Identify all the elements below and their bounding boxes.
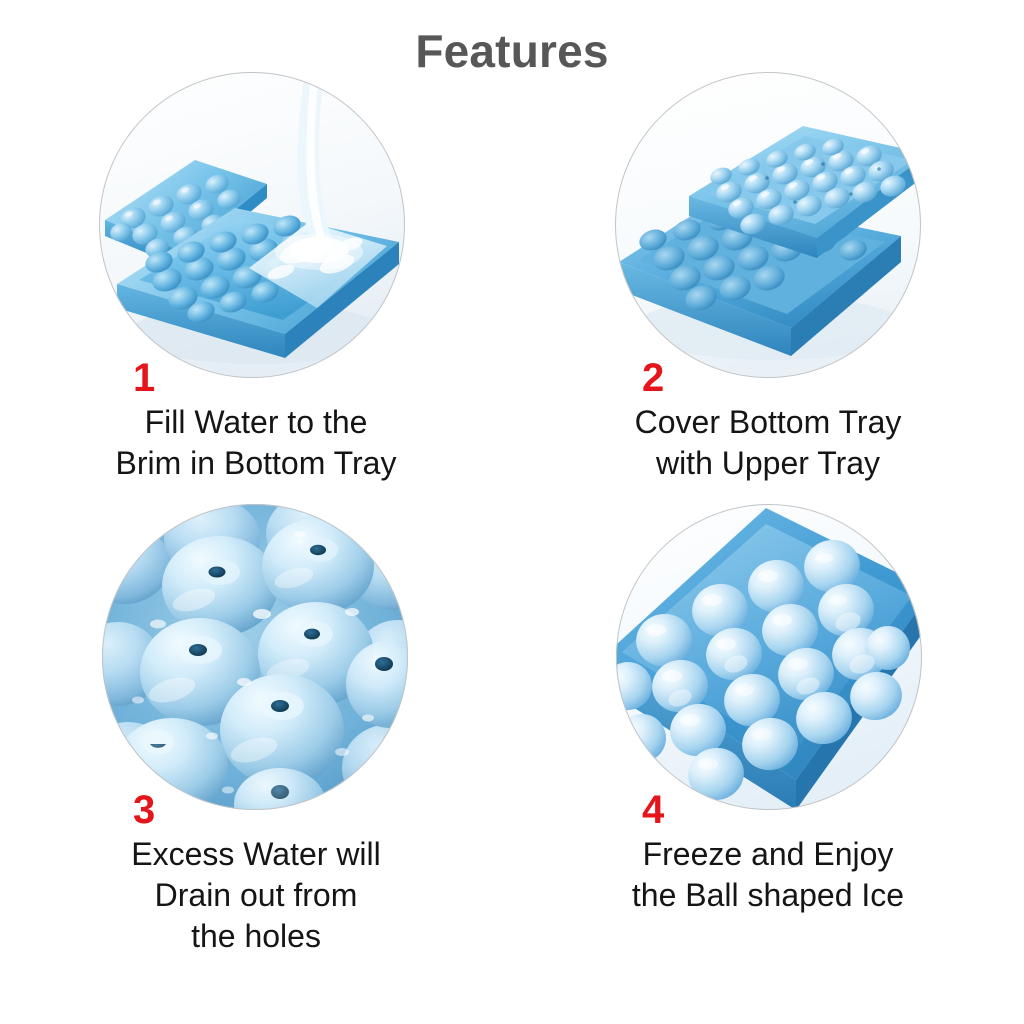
step-3-caption: Excess Water will Drain out from the hol… bbox=[0, 834, 512, 957]
step-4-photo bbox=[616, 504, 922, 810]
page-title: Features bbox=[0, 26, 1024, 77]
step-2-photo bbox=[615, 72, 921, 378]
step-4-caption: Freeze and Enjoy the Ball shaped Ice bbox=[512, 834, 1024, 916]
step-1-image-circle bbox=[99, 72, 405, 378]
feature-step-1: 1 Fill Water to the Brim in Bottom Tray bbox=[0, 72, 512, 542]
features-infographic: Features bbox=[0, 0, 1024, 1024]
step-3-image-circle bbox=[102, 504, 408, 810]
step-4-number: 4 bbox=[642, 790, 664, 830]
step-1-caption: Fill Water to the Brim in Bottom Tray bbox=[0, 402, 512, 484]
step-2-caption: Cover Bottom Tray with Upper Tray bbox=[512, 402, 1024, 484]
step-2-image-circle bbox=[615, 72, 921, 378]
feature-step-3: 3 Excess Water will Drain out from the h… bbox=[0, 500, 512, 970]
feature-step-2: 2 Cover Bottom Tray with Upper Tray bbox=[512, 72, 1024, 542]
step-3-number: 3 bbox=[133, 790, 155, 830]
step-4-image-circle bbox=[616, 504, 922, 810]
step-3-photo bbox=[102, 504, 408, 810]
feature-step-4: 4 Freeze and Enjoy the Ball shaped Ice bbox=[512, 500, 1024, 970]
step-2-number: 2 bbox=[642, 358, 664, 398]
step-1-number: 1 bbox=[133, 358, 155, 398]
step-1-photo bbox=[99, 72, 405, 378]
